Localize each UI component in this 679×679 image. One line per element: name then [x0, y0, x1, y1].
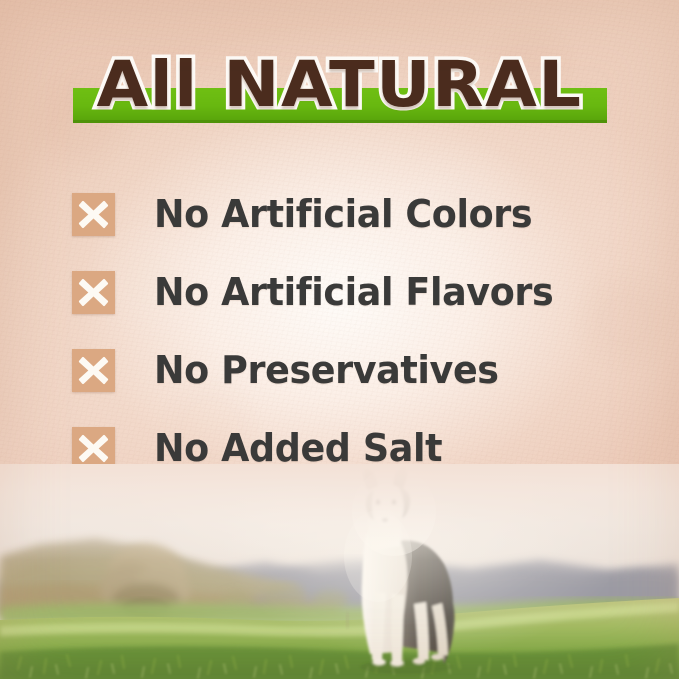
list-item-label: No Added Salt	[154, 427, 442, 469]
list-item-label: No Artificial Colors	[154, 193, 532, 235]
headline-banner: All NATURAL	[0, 47, 679, 131]
page-title: All NATURAL	[0, 47, 679, 123]
claims-list: No Artificial Colors No Artificial Flavo…	[72, 175, 632, 487]
x-mark-icon	[72, 349, 115, 392]
list-item-label: No Artificial Flavors	[154, 271, 553, 313]
list-item: No Artificial Colors	[72, 175, 632, 253]
list-item: No Artificial Flavors	[72, 253, 632, 331]
lifestyle-photo	[0, 464, 679, 679]
x-mark-icon	[72, 271, 115, 314]
product-feature-poster: All NATURAL No Artificial Colors No Arti…	[0, 0, 679, 679]
x-mark-icon	[72, 193, 115, 236]
list-item-label: No Preservatives	[154, 349, 499, 391]
list-item: No Preservatives	[72, 331, 632, 409]
